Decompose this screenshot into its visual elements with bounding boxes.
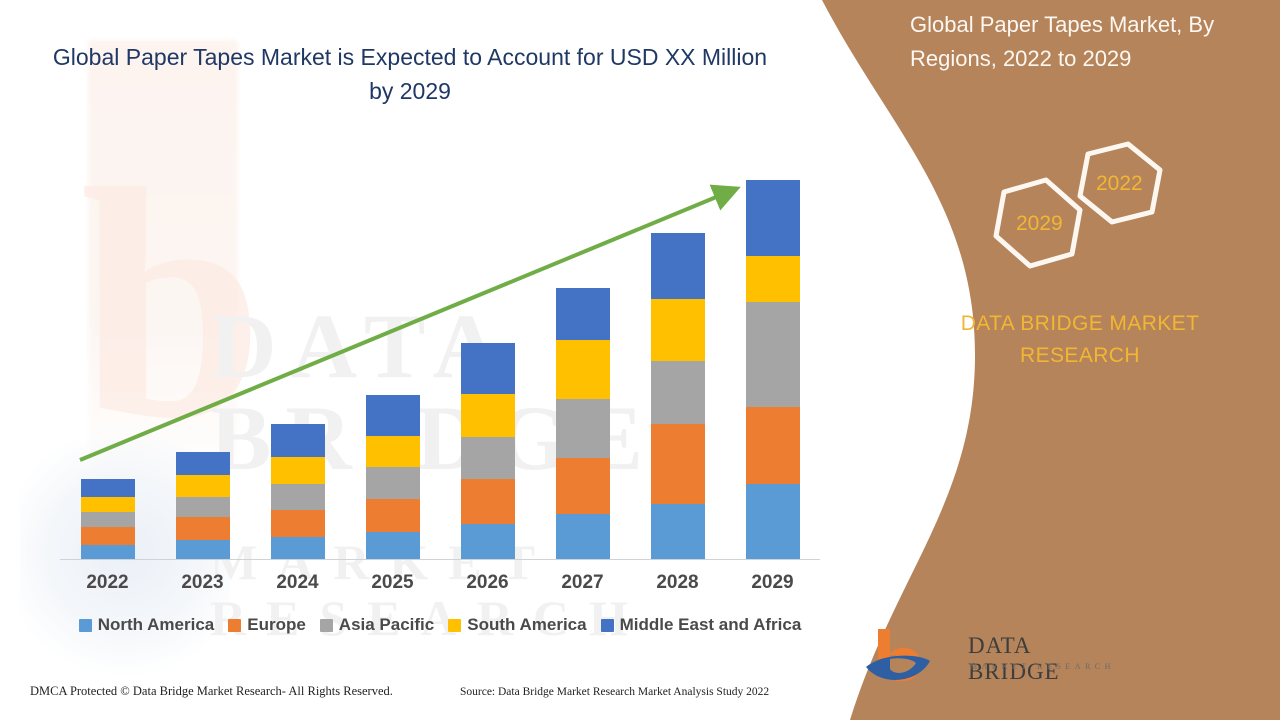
legend-swatch-icon bbox=[228, 619, 241, 632]
bar-segment bbox=[271, 537, 325, 559]
bar-segment bbox=[461, 437, 515, 480]
bar-segment bbox=[556, 458, 610, 514]
footer-source: Source: Data Bridge Market Research Mark… bbox=[460, 686, 769, 698]
x-axis-label: 2025 bbox=[353, 572, 433, 594]
bar-segment bbox=[556, 340, 610, 399]
logo-tagline: MARKET RESEARCH bbox=[970, 662, 1115, 671]
bar-segment bbox=[271, 484, 325, 511]
legend-swatch-icon bbox=[320, 619, 333, 632]
x-axis-label: 2028 bbox=[638, 572, 718, 594]
x-axis-label: 2024 bbox=[258, 572, 338, 594]
panel-content: Global Paper Tapes Market, By Regions, 2… bbox=[800, 0, 1280, 720]
legend-item[interactable]: Asia Pacific bbox=[320, 615, 434, 635]
bar-2025 bbox=[366, 395, 420, 559]
bar-2023 bbox=[176, 452, 230, 559]
legend-item[interactable]: Middle East and Africa bbox=[601, 615, 802, 635]
hexagon-back-label: 2022 bbox=[1096, 172, 1143, 196]
bar-segment bbox=[746, 302, 800, 407]
bar-group bbox=[60, 151, 820, 559]
bar-segment bbox=[81, 527, 135, 544]
bar-segment bbox=[556, 288, 610, 340]
legend-label: Middle East and Africa bbox=[620, 615, 802, 635]
bar-segment bbox=[176, 452, 230, 475]
x-axis-line bbox=[60, 559, 820, 560]
bar-segment bbox=[176, 517, 230, 539]
bar-segment bbox=[461, 479, 515, 524]
bar-segment bbox=[81, 497, 135, 512]
bar-segment bbox=[651, 233, 705, 299]
chart-legend: North AmericaEuropeAsia PacificSouth Ame… bbox=[40, 615, 840, 635]
legend-item[interactable]: South America bbox=[448, 615, 586, 635]
legend-swatch-icon bbox=[79, 619, 92, 632]
bar-segment bbox=[461, 343, 515, 394]
x-axis-label: 2023 bbox=[163, 572, 243, 594]
bar-segment bbox=[176, 475, 230, 496]
x-axis-label: 2022 bbox=[68, 572, 148, 594]
bar-segment bbox=[746, 407, 800, 484]
bar-segment bbox=[366, 499, 420, 533]
bar-segment bbox=[651, 504, 705, 559]
bar-segment bbox=[271, 457, 325, 484]
bar-segment bbox=[651, 424, 705, 504]
bar-segment bbox=[81, 545, 135, 559]
bar-segment bbox=[271, 424, 325, 457]
bar-segment bbox=[81, 479, 135, 496]
chart-title: Global Paper Tapes Market is Expected to… bbox=[40, 40, 780, 108]
slide-canvas: b DATA BRIDGE MARKET RESEARCH Global Pap… bbox=[0, 0, 1280, 720]
chart-plot-area bbox=[60, 150, 820, 560]
panel-title: Global Paper Tapes Market, By Regions, 2… bbox=[910, 8, 1270, 76]
bar-segment bbox=[746, 180, 800, 257]
bar-2022 bbox=[81, 479, 135, 559]
panel-brand-name: DATA BRIDGE MARKET RESEARCH bbox=[910, 308, 1250, 372]
bar-segment bbox=[366, 467, 420, 499]
hexagon-group: 2022 2029 bbox=[970, 140, 1200, 290]
bar-segment bbox=[366, 395, 420, 436]
footer-copyright: DMCA Protected © Data Bridge Market Rese… bbox=[30, 684, 393, 699]
bar-2029 bbox=[746, 180, 800, 559]
x-axis-label: 2027 bbox=[543, 572, 623, 594]
logo-wordmark: DATA BRIDGE bbox=[968, 633, 1120, 685]
bar-segment bbox=[651, 299, 705, 361]
right-info-panel: Global Paper Tapes Market, By Regions, 2… bbox=[800, 0, 1280, 720]
bar-segment bbox=[271, 510, 325, 537]
bar-2028 bbox=[651, 233, 705, 559]
legend-swatch-icon bbox=[448, 619, 461, 632]
x-axis-label: 2026 bbox=[448, 572, 528, 594]
bar-segment bbox=[81, 512, 135, 527]
bar-segment bbox=[366, 436, 420, 468]
legend-item[interactable]: North America bbox=[79, 615, 215, 635]
bar-2026 bbox=[461, 343, 515, 559]
bar-segment bbox=[651, 361, 705, 424]
bar-segment bbox=[556, 514, 610, 559]
bar-segment bbox=[366, 532, 420, 559]
bar-segment bbox=[176, 497, 230, 517]
legend-swatch-icon bbox=[601, 619, 614, 632]
legend-label: Europe bbox=[247, 615, 306, 635]
data-bridge-logo: DATA BRIDGE MARKET RESEARCH bbox=[860, 625, 1120, 697]
bar-segment bbox=[461, 524, 515, 559]
legend-item[interactable]: Europe bbox=[228, 615, 306, 635]
bar-segment bbox=[556, 399, 610, 458]
legend-label: South America bbox=[467, 615, 586, 635]
bar-segment bbox=[746, 484, 800, 559]
legend-label: Asia Pacific bbox=[339, 615, 434, 635]
legend-label: North America bbox=[98, 615, 215, 635]
bar-2027 bbox=[556, 288, 610, 559]
bar-segment bbox=[461, 394, 515, 437]
bar-segment bbox=[746, 256, 800, 302]
bar-2024 bbox=[271, 424, 325, 559]
logo-mark-icon bbox=[860, 625, 960, 695]
bar-segment bbox=[176, 540, 230, 559]
hexagon-front-label: 2029 bbox=[1016, 212, 1063, 236]
x-axis-labels: 20222023202420252026202720282029 bbox=[60, 572, 820, 594]
